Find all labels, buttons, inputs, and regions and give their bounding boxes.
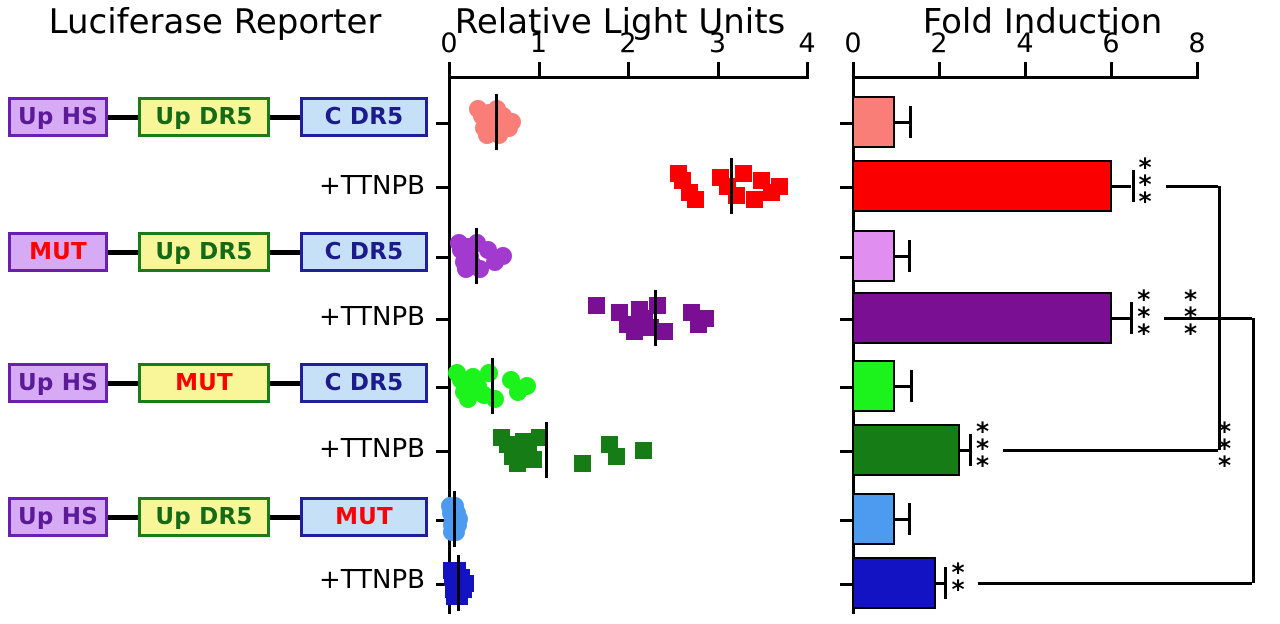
construct-part-label: Up HS xyxy=(18,370,98,396)
rlu-row-tick xyxy=(436,122,448,125)
rlu-xtick xyxy=(806,62,809,76)
fold-bar xyxy=(852,493,895,545)
construct-part-label: Up HS xyxy=(18,104,98,130)
fold-row-tick xyxy=(840,256,852,259)
construct-linker xyxy=(108,115,138,120)
rlu-data-point xyxy=(735,165,752,182)
rlu-row-tick xyxy=(436,256,448,259)
comparison-bracket-asterisks: * * * xyxy=(1218,423,1231,474)
construct-linker xyxy=(108,250,138,255)
rlu-data-point xyxy=(608,448,625,465)
rlu-row-tick xyxy=(436,186,448,189)
construct-row-2: MUT Up DR5 C DR5 xyxy=(8,231,428,273)
rlu-data-point xyxy=(656,323,673,340)
fold-xtick xyxy=(1110,62,1113,76)
comparison-bracket-arm xyxy=(1166,185,1219,188)
rlu-xtick xyxy=(538,62,541,76)
treatment-label-row-5: +TTNPB xyxy=(210,434,425,464)
rlu-axis-top xyxy=(448,76,809,79)
comparison-bracket-arm xyxy=(1003,449,1218,452)
construct-part-label: C DR5 xyxy=(325,370,404,396)
fold-row-tick xyxy=(840,519,852,522)
construct-part-label: MUT xyxy=(335,504,393,530)
rlu-data-point xyxy=(687,191,704,208)
fold-error-cap xyxy=(910,370,913,402)
construct-linker xyxy=(270,381,300,386)
construct-part-label: MUT xyxy=(175,370,233,396)
construct-part-label: Up DR5 xyxy=(155,504,252,530)
rlu-data-point xyxy=(486,390,504,408)
rlu-row-tick xyxy=(436,318,448,321)
rlu-mean-line xyxy=(491,358,494,414)
comparison-bracket-asterisks: * * * xyxy=(1184,291,1197,342)
rlu-data-point xyxy=(635,442,652,459)
fold-error-cap xyxy=(1130,302,1133,334)
construct-row-4: Up HS MUT C DR5 xyxy=(8,362,428,404)
rlu-data-point xyxy=(525,451,542,468)
rlu-data-point xyxy=(649,297,666,314)
rlu-xtick-label: 2 xyxy=(608,28,648,59)
fold-bar xyxy=(852,360,895,412)
fold-error-bar xyxy=(1112,185,1131,188)
fold-row-tick xyxy=(840,186,852,189)
comparison-bracket-stem xyxy=(1252,318,1255,583)
rlu-row-tick xyxy=(436,386,448,389)
rlu-data-point xyxy=(518,377,536,395)
rlu-data-point xyxy=(494,247,512,265)
rlu-row-tick xyxy=(436,450,448,453)
fold-error-cap xyxy=(944,567,947,599)
fold-bar xyxy=(852,557,936,609)
fold-xtick-label: 4 xyxy=(1005,28,1045,59)
fold-xtick xyxy=(1024,62,1027,76)
construct-part-up-dr5-mutated: MUT xyxy=(138,363,270,403)
construct-part-label: C DR5 xyxy=(325,104,404,130)
construct-linker xyxy=(270,115,300,120)
rlu-xtick xyxy=(448,62,451,76)
construct-part-upstream-hs: Up HS xyxy=(8,363,108,403)
rlu-mean-line xyxy=(475,228,478,284)
comparison-bracket-arm xyxy=(1164,317,1252,320)
construct-part-label: MUT xyxy=(29,239,87,265)
rlu-mean-line xyxy=(457,555,460,611)
construct-part-label: Up DR5 xyxy=(155,239,252,265)
fold-xtick xyxy=(938,62,941,76)
fold-error-bar xyxy=(895,385,910,388)
rlu-xtick-label: 4 xyxy=(787,28,827,59)
construct-part-up-dr5: Up DR5 xyxy=(138,497,270,537)
construct-part-c-dr5: C DR5 xyxy=(300,363,428,403)
rlu-xtick xyxy=(627,62,630,76)
construct-row-6: Up HS Up DR5 MUT xyxy=(8,496,428,538)
construct-part-c-dr5: C DR5 xyxy=(300,232,428,272)
construct-part-upstream-hs: Up HS xyxy=(8,497,108,537)
construct-part-label: C DR5 xyxy=(325,239,404,265)
fold-row-tick xyxy=(840,386,852,389)
construct-linker xyxy=(270,515,300,520)
fold-bar xyxy=(852,292,1112,344)
fold-error-cap xyxy=(908,503,911,535)
significance-asterisks: * * * xyxy=(1139,159,1152,210)
rlu-data-point xyxy=(503,113,521,131)
fold-error-cap xyxy=(969,434,972,466)
rlu-data-point xyxy=(771,178,788,195)
construct-part-c-dr5: C DR5 xyxy=(300,97,428,137)
rlu-xtick-label: 3 xyxy=(698,28,738,59)
figure-canvas: Luciferase Reporter Relative Light Units… xyxy=(0,0,1280,624)
rlu-data-point xyxy=(480,364,498,382)
comparison-bracket-arm xyxy=(978,582,1252,585)
rlu-xtick-label: 0 xyxy=(429,28,469,59)
significance-asterisks: * * * xyxy=(976,423,989,474)
fold-error-bar xyxy=(895,255,908,258)
fold-error-bar xyxy=(936,582,945,585)
treatment-label-row-1: +TTNPB xyxy=(210,171,425,201)
rlu-mean-line xyxy=(654,290,657,346)
fold-axis-top xyxy=(852,76,1199,79)
construct-part-label: Up DR5 xyxy=(155,104,252,130)
fold-bar xyxy=(852,160,1112,212)
construct-part-label: Up HS xyxy=(18,504,98,530)
rlu-data-point xyxy=(588,297,605,314)
construct-part-upstream-hs-mutated: MUT xyxy=(8,232,108,272)
construct-row-0: Up HS Up DR5 C DR5 xyxy=(8,96,428,138)
treatment-label-row-7: +TTNPB xyxy=(210,565,425,595)
construct-part-up-dr5: Up DR5 xyxy=(138,97,270,137)
rlu-xtick-label: 1 xyxy=(519,28,559,59)
fold-xtick-label: 0 xyxy=(833,28,873,59)
fold-xtick-label: 2 xyxy=(919,28,959,59)
fold-row-tick xyxy=(840,450,852,453)
rlu-mean-line xyxy=(453,491,456,547)
fold-xtick-label: 6 xyxy=(1091,28,1131,59)
rlu-mean-line xyxy=(730,158,733,214)
construct-linker xyxy=(108,381,138,386)
fold-error-bar xyxy=(1112,317,1130,320)
fold-error-bar xyxy=(895,121,909,124)
rlu-data-point xyxy=(746,191,763,208)
rlu-mean-line xyxy=(495,94,498,150)
construct-linker xyxy=(270,250,300,255)
fold-row-tick xyxy=(840,122,852,125)
fold-error-cap xyxy=(908,240,911,272)
fold-error-cap xyxy=(1132,170,1135,202)
fold-xtick xyxy=(852,62,855,76)
fold-error-bar xyxy=(895,518,908,521)
fold-bar xyxy=(852,424,960,476)
fold-bar xyxy=(852,230,895,282)
rlu-data-point xyxy=(574,455,591,472)
fold-bar xyxy=(852,96,895,148)
fold-xtick-label: 8 xyxy=(1177,28,1217,59)
construct-linker xyxy=(108,515,138,520)
significance-asterisks: * * * xyxy=(1137,291,1150,342)
construct-part-upstream-hs: Up HS xyxy=(8,97,108,137)
treatment-label-row-3: +TTNPB xyxy=(210,302,425,332)
fold-error-cap xyxy=(909,106,912,138)
construct-part-c-dr5-mutated: MUT xyxy=(300,497,428,537)
fold-row-tick xyxy=(840,318,852,321)
fold-error-bar xyxy=(960,449,969,452)
significance-asterisks: * * xyxy=(951,564,964,598)
fold-xtick xyxy=(1196,62,1199,76)
rlu-mean-line xyxy=(545,422,548,478)
construct-part-up-dr5: Up DR5 xyxy=(138,232,270,272)
rlu-xtick xyxy=(717,62,720,76)
fold-row-tick xyxy=(840,583,852,586)
rlu-data-point xyxy=(697,310,714,327)
panel-title-luciferase-reporter: Luciferase Reporter xyxy=(0,2,430,42)
